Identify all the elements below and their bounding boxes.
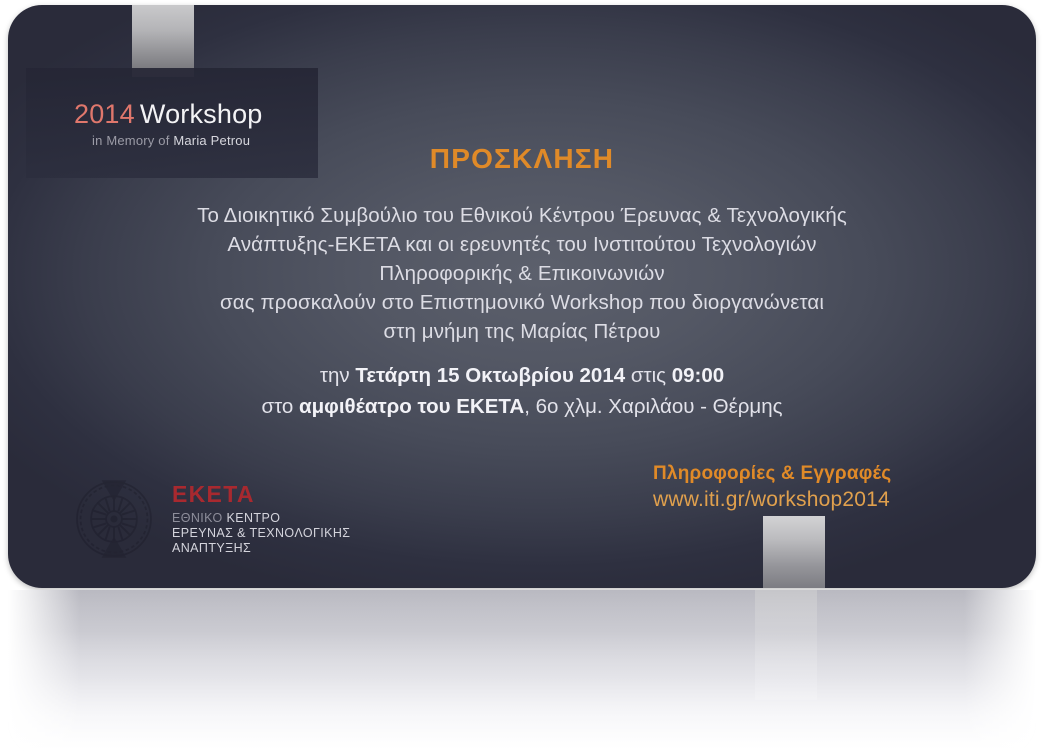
certh-sub-line-2: ΕΡΕΥΝΑΣ & ΤΕΧΝΟΛΟΓΙΚΗΣ: [172, 526, 350, 541]
info-block: Πληροφορίες & Εγγραφές www.iti.gr/worksh…: [653, 463, 891, 512]
body-line-1: Το Διοικητικό Συμβούλιο του Εθνικού Κέντ…: [68, 201, 976, 230]
invitation-body: Το Διοικητικό Συμβούλιο του Εθνικού Κέντ…: [68, 201, 976, 346]
certh-sub-dim: ΕΘΝΙΚΟ: [172, 511, 227, 525]
certh-seal-icon: [70, 475, 158, 563]
event-venue-line: στο αμφιθέατρο του ΕΚΕΤΑ, 6ο χλμ. Χαριλά…: [68, 391, 976, 422]
event-venue: αμφιθέατρο του ΕΚΕΤΑ: [299, 395, 524, 418]
workshop-logo-year: 2014: [74, 99, 135, 129]
body-line-2: Ανάπτυξης-ΕΚΕΤΑ και οι ερευνητές του Ινσ…: [68, 230, 976, 259]
decorative-ribbon-top: [132, 5, 194, 77]
event-details: την Τετάρτη 15 Οκτωβρίου 2014 στις 09:00…: [68, 360, 976, 422]
venue-address: , 6ο χλμ. Χαριλάου - Θέρμης: [524, 395, 782, 418]
event-date: Τετάρτη 15 Οκτωβρίου 2014: [355, 364, 625, 387]
info-heading: Πληροφορίες & Εγγραφές: [653, 463, 891, 485]
reflection-side-vignette: [8, 590, 1036, 756]
invitation-page: 2014Workshop in Memory of Maria Petrou Π…: [0, 0, 1054, 756]
invitation-title: ΠΡΟΣΚΛΗΣΗ: [8, 143, 1036, 175]
certh-sub-line-1: ΕΘΝΙΚΟ ΚΕΝΤΡΟ: [172, 511, 350, 526]
certh-logo-block: ΕΚΕΤΑ ΕΘΝΙΚΟ ΚΕΝΤΡΟ ΕΡΕΥΝΑΣ & ΤΕΧΝΟΛΟΓΙΚ…: [70, 475, 350, 563]
workshop-logo: 2014Workshop in Memory of Maria Petrou: [74, 101, 263, 148]
workshop-logo-title: 2014Workshop: [74, 101, 263, 128]
info-url[interactable]: www.iti.gr/workshop2014: [653, 488, 891, 512]
reflection-clip: ΕΚΕΤΑ ΕΘΝΙΚΟ ΚΕΝΤΡΟ ΕΡΕΥΝΑΣ & ΤΕΧΝΟΛΟΓΙΚ…: [8, 590, 1036, 756]
workshop-logo-word: Workshop: [140, 99, 263, 129]
certh-text: ΕΚΕΤΑ ΕΘΝΙΚΟ ΚΕΝΤΡΟ ΕΡΕΥΝΑΣ & ΤΕΧΝΟΛΟΓΙΚ…: [172, 483, 350, 556]
certh-sub-bright: ΚΕΝΤΡΟ: [227, 511, 281, 525]
body-line-5: στη μνήμη της Μαρίας Πέτρου: [68, 317, 976, 346]
event-time: 09:00: [672, 364, 724, 387]
invitation-card: 2014Workshop in Memory of Maria Petrou Π…: [8, 5, 1036, 588]
datetime-mid: στις: [625, 364, 672, 387]
body-line-3: Πληροφορικής & Επικοινωνιών: [68, 259, 976, 288]
card-surface: 2014Workshop in Memory of Maria Petrou Π…: [8, 5, 1036, 588]
datetime-prefix: την: [320, 364, 355, 387]
venue-prefix: στο: [261, 395, 299, 418]
certh-acronym: ΕΚΕΤΑ: [172, 483, 350, 506]
card-reflection: ΕΚΕΤΑ ΕΘΝΙΚΟ ΚΕΝΤΡΟ ΕΡΕΥΝΑΣ & ΤΕΧΝΟΛΟΓΙΚ…: [8, 590, 1036, 756]
event-datetime-line: την Τετάρτη 15 Οκτωβρίου 2014 στις 09:00: [68, 360, 976, 391]
certh-sub-line-3: ΑΝΑΠΤΥΞΗΣ: [172, 541, 350, 556]
body-line-4: σας προσκαλούν στο Επιστημονικό Workshop…: [68, 288, 976, 317]
certh-fullname: ΕΘΝΙΚΟ ΚΕΝΤΡΟ ΕΡΕΥΝΑΣ & ΤΕΧΝΟΛΟΓΙΚΗΣ ΑΝΑ…: [172, 511, 350, 556]
decorative-ribbon-bottom: [763, 516, 825, 588]
